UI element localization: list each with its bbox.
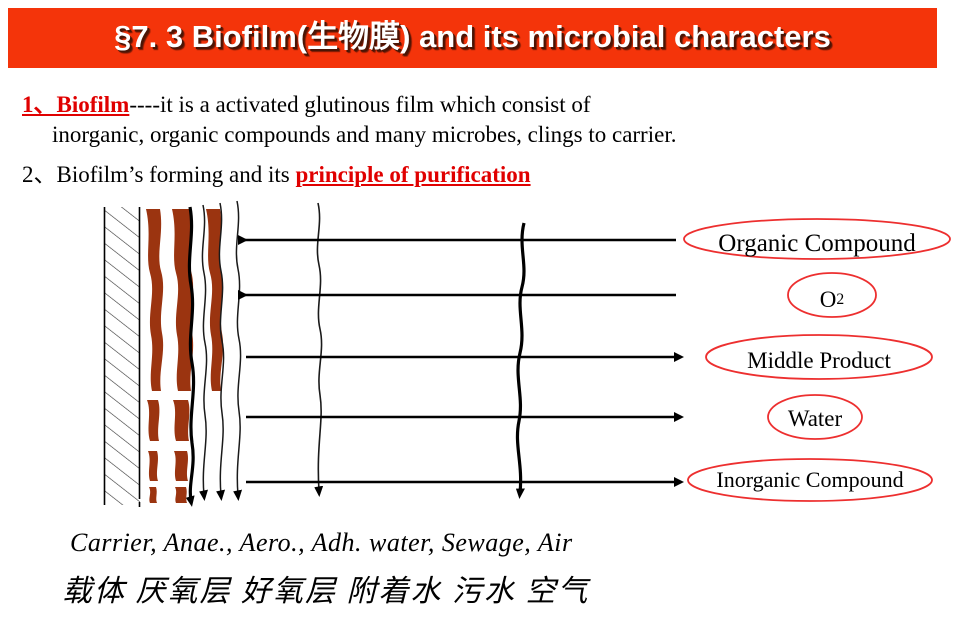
body-item1-line2: inorganic, organic compounds and many mi… — [52, 122, 676, 148]
biofilm-layer — [146, 209, 223, 503]
item2-lead: Biofilm’s forming and its — [57, 162, 296, 187]
label-o2: O2 — [788, 277, 876, 322]
item2-number: 2、 — [22, 162, 57, 187]
label-water: Water — [768, 397, 862, 441]
title-banner: §7. 3 Biofilm(生物膜) and its microbial cha… — [8, 8, 937, 68]
item1-term: Biofilm — [57, 92, 130, 117]
label-o2-text: O — [820, 287, 837, 313]
caption-chinese: 载体 厌氧层 好氧层 附着水 污水 空气 — [62, 566, 590, 610]
label-o2-subscript: 2 — [836, 291, 844, 309]
body-item1-line1: 1、Biofilm----it is a activated glutinous… — [22, 92, 591, 118]
sewage-wave-line — [317, 203, 321, 491]
label-middle-product: Middle Product — [706, 339, 932, 383]
item2-emphasis: principle of purification — [295, 162, 530, 187]
flow-arrows — [238, 240, 676, 482]
label-inorganic-compound: Inorganic Compound — [688, 459, 932, 501]
item1-line1-rest: ----it is a activated glutinous film whi… — [129, 92, 590, 117]
slide-canvas: §7. 3 Biofilm(生物膜) and its microbial cha… — [0, 0, 955, 618]
item1-number: 1、 — [22, 92, 57, 117]
page-title: §7. 3 Biofilm(生物膜) and its microbial cha… — [8, 8, 937, 68]
body-item2-line1: 2、Biofilm’s forming and its principle of… — [22, 162, 531, 188]
biofilm-surface-line — [189, 207, 193, 501]
caption-english: Carrier, Anae., Aero., Adh. water, Sewag… — [70, 528, 573, 558]
carrier-block — [104, 207, 140, 507]
label-organic-compound: Organic Compound — [684, 224, 950, 264]
